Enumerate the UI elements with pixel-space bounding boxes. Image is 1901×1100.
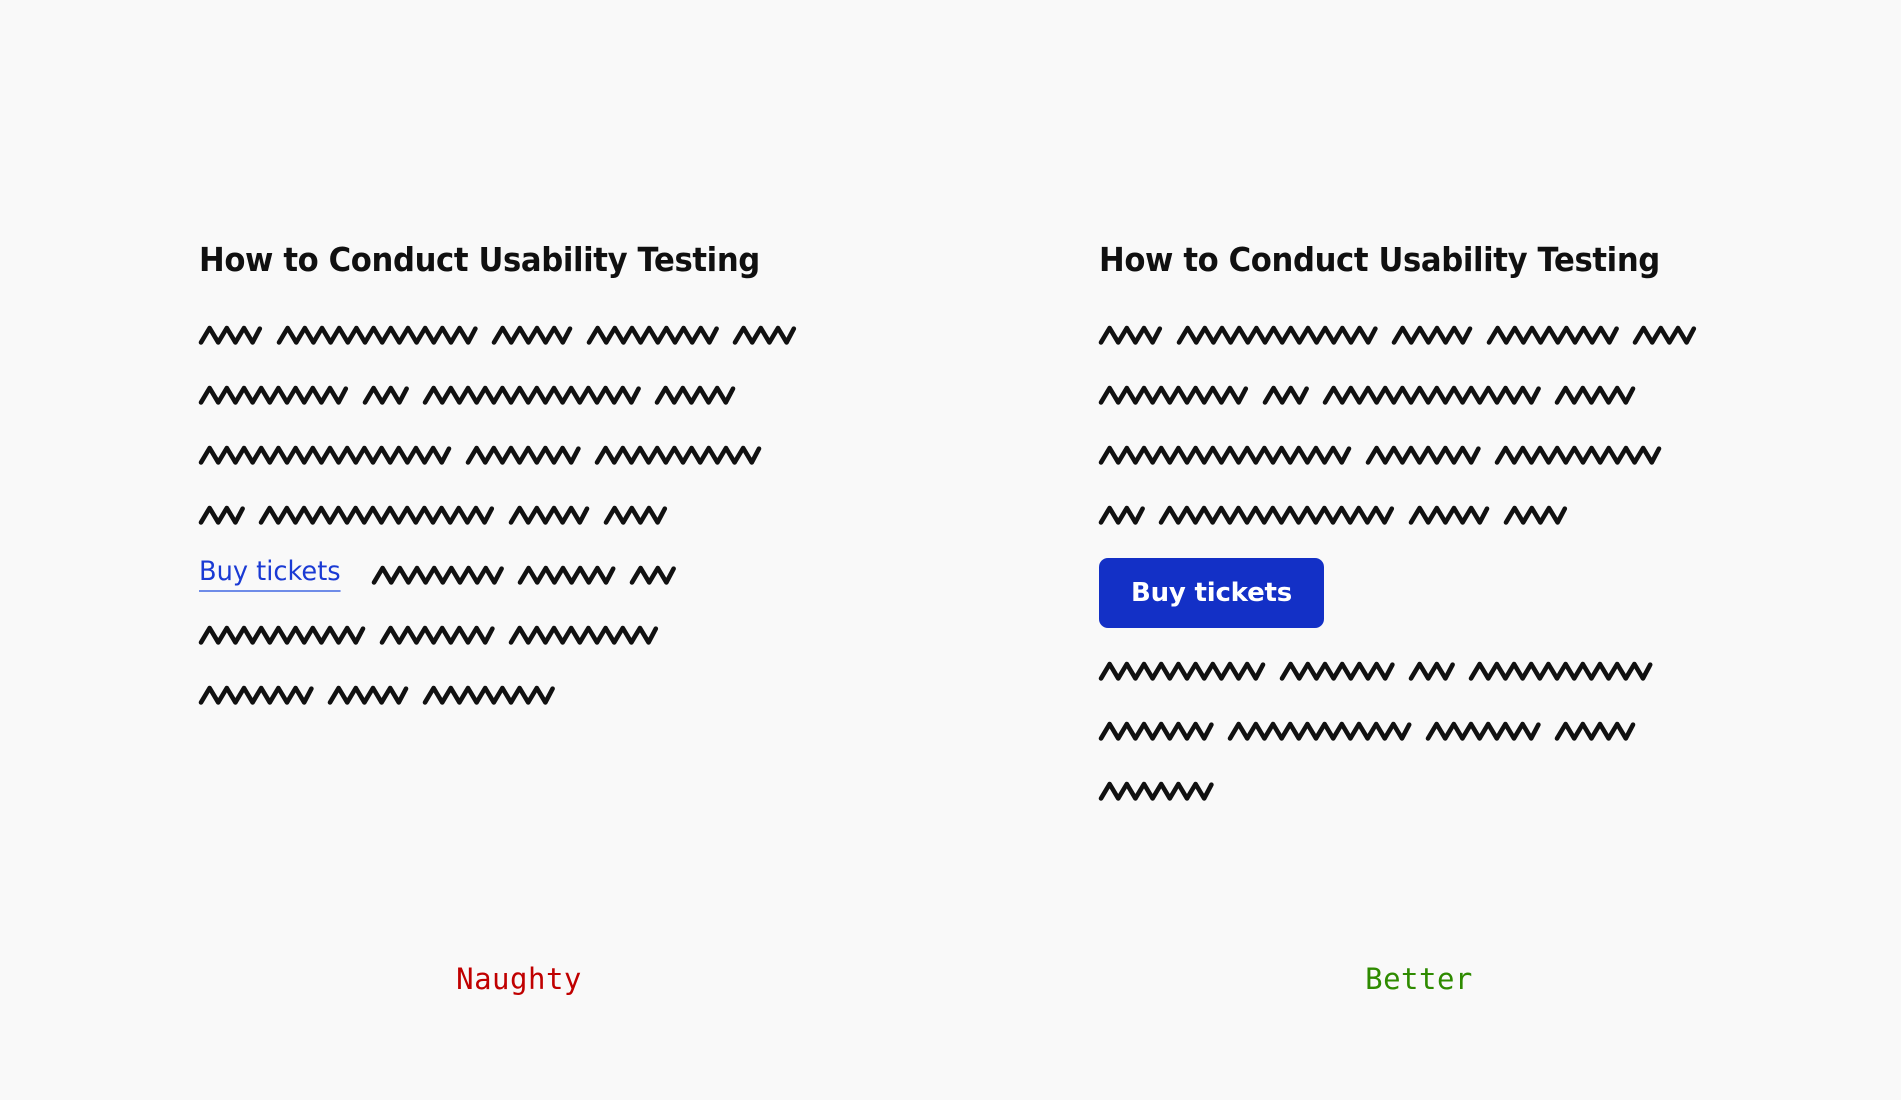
- squiggle-word: [595, 444, 754, 466]
- squiggle-word: [509, 624, 651, 646]
- body-text-line: [1099, 365, 1739, 425]
- squiggle-word: [277, 324, 470, 346]
- body-text-line: [1099, 485, 1739, 545]
- page-title-right: How to Conduct Usability Testing: [1099, 240, 1694, 279]
- squiggle-word: [1409, 504, 1482, 526]
- buy-tickets-button[interactable]: Buy tickets: [1099, 558, 1324, 628]
- cta-line-left: Buy tickets: [199, 545, 839, 605]
- body-text-line: [199, 605, 839, 665]
- squiggle-word: [199, 444, 444, 466]
- left-panel: How to Conduct Usability Testing Buy tic…: [199, 240, 839, 725]
- squiggle-word: [1633, 324, 1689, 346]
- squiggle-word: [1323, 384, 1533, 406]
- squiggle-word: [1280, 660, 1387, 682]
- body-text-line: [1099, 425, 1739, 485]
- body-text-line: [199, 665, 839, 725]
- squiggle-word: [1099, 324, 1155, 346]
- squiggle-word: [1555, 384, 1628, 406]
- buy-tickets-link[interactable]: Buy tickets: [199, 558, 341, 592]
- squiggle-word: [199, 504, 237, 526]
- squiggle-word: [492, 324, 565, 346]
- cta-wrap-right: Buy tickets: [1099, 545, 1739, 641]
- body-text-line: [199, 305, 839, 365]
- comparison-stage: How to Conduct Usability Testing Buy tic…: [0, 0, 1901, 1100]
- body-text-left-bottom: [199, 605, 839, 725]
- squiggle-word: [259, 504, 487, 526]
- squiggle-word: [1159, 504, 1387, 526]
- squiggle-word: [518, 564, 608, 586]
- squiggle-word: [630, 564, 668, 586]
- squiggle-word: [1469, 660, 1645, 682]
- squiggle-word: [1177, 324, 1370, 346]
- squiggle-word: [1392, 324, 1465, 346]
- squiggle-word: [1487, 324, 1611, 346]
- squiggle-word: [1099, 384, 1241, 406]
- squiggle-word: [199, 624, 358, 646]
- squiggle-word: [655, 384, 728, 406]
- body-text-line: [1099, 761, 1739, 821]
- body-text-line: [1099, 701, 1739, 761]
- squiggle-word: [199, 324, 255, 346]
- squiggle-word: [1099, 444, 1344, 466]
- squiggle-word: [363, 384, 401, 406]
- squiggle-word: [199, 684, 306, 706]
- body-text-left-top: [199, 305, 839, 545]
- squiggle-word: [587, 324, 711, 346]
- verdict-label-left: Naughty: [199, 962, 839, 996]
- squiggle-word: [328, 684, 401, 706]
- body-text-right-top: [1099, 305, 1739, 545]
- right-panel: How to Conduct Usability Testing Buy tic…: [1099, 240, 1739, 821]
- body-text-line: [199, 365, 839, 425]
- squiggle-word: [604, 504, 660, 526]
- squiggle-word: [1099, 720, 1206, 742]
- body-text-line: [199, 425, 839, 485]
- body-text-right-bottom: [1099, 641, 1739, 821]
- squiggle-word: [1426, 720, 1533, 742]
- body-text-line: [199, 485, 839, 545]
- squiggle-word: [1366, 444, 1473, 466]
- squiggle-word: [466, 444, 573, 466]
- squiggle-word: [372, 564, 496, 586]
- squiggle-word: [1228, 720, 1404, 742]
- squiggle-word: [1504, 504, 1560, 526]
- body-text-line: [1099, 305, 1739, 365]
- squiggle-word: [1099, 780, 1206, 802]
- body-text-left-cta-trailing: [372, 564, 669, 586]
- squiggle-word: [1409, 660, 1447, 682]
- squiggle-word: [509, 504, 582, 526]
- squiggle-word: [733, 324, 789, 346]
- squiggle-word: [423, 684, 547, 706]
- squiggle-word: [380, 624, 487, 646]
- body-text-line: [1099, 641, 1739, 701]
- squiggle-word: [1099, 660, 1258, 682]
- verdict-label-right: Better: [1099, 962, 1739, 996]
- squiggle-word: [1263, 384, 1301, 406]
- squiggle-word: [423, 384, 633, 406]
- squiggle-word: [1495, 444, 1654, 466]
- squiggle-word: [199, 384, 341, 406]
- page-title-left: How to Conduct Usability Testing: [199, 240, 794, 279]
- squiggle-word: [1099, 504, 1137, 526]
- squiggle-word: [1555, 720, 1628, 742]
